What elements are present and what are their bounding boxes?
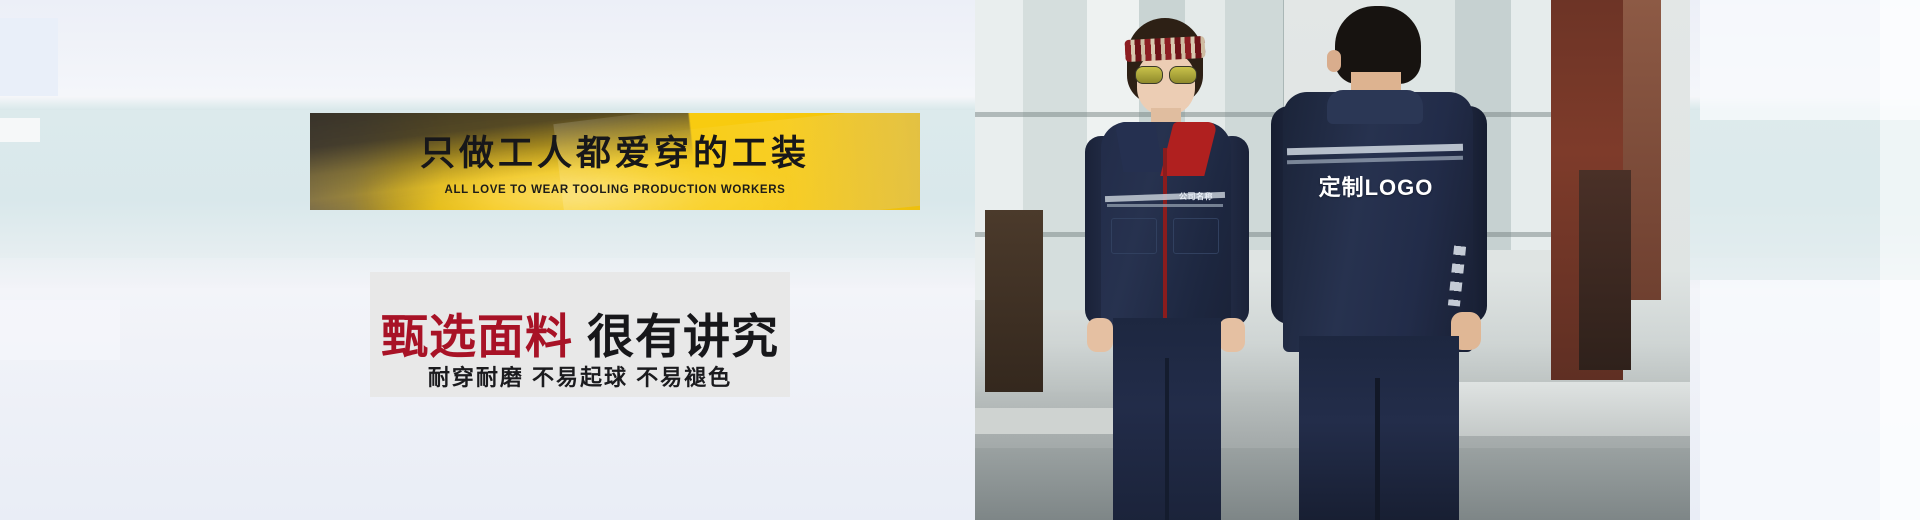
model-hand-left (1087, 318, 1113, 352)
planter-box (985, 210, 1043, 400)
model-back-view: 定制LOGO (1265, 6, 1495, 520)
jacket-zipper (1163, 148, 1167, 334)
headline-block: 甄选面料很有讲究 耐穿耐磨 不易起球 不易褪色 (370, 272, 790, 397)
doorway (1579, 170, 1631, 370)
jacket-collar-back (1327, 90, 1423, 124)
sunglasses-lens-left (1135, 66, 1163, 84)
headline-row: 甄选面料很有讲究 (370, 298, 790, 367)
sunglasses-lens-right (1169, 66, 1197, 84)
trousers-seam (1165, 358, 1169, 520)
glass-panel (1511, 0, 1552, 250)
model-face (1137, 52, 1195, 116)
product-photo: 公司名称 定制LOGO (975, 0, 1690, 520)
jacket-pocket-right (1173, 218, 1219, 254)
back-logo-text: 定制LOGO (1301, 170, 1451, 202)
yellow-banner: 只做工人都爱穿的工装 ALL LOVE TO WEAR TOOLING PROD… (310, 113, 920, 210)
trousers-seam (1375, 378, 1380, 520)
sunglasses-icon (1135, 66, 1197, 82)
headline-subline: 耐穿耐磨 不易起球 不易褪色 (370, 360, 790, 392)
jacket-pocket-left (1111, 218, 1157, 254)
model-ear (1327, 50, 1341, 72)
promo-banner-stage: 只做工人都爱穿的工装 ALL LOVE TO WEAR TOOLING PROD… (0, 0, 1920, 520)
jacket-collar-left (1115, 122, 1164, 172)
model-front-view: 公司名称 (1075, 18, 1255, 520)
banner-subtitle: ALL LOVE TO WEAR TOOLING PRODUCTION WORK… (310, 184, 920, 196)
plaid-headband (1124, 36, 1205, 62)
reflective-stripe-thin (1107, 204, 1223, 207)
model-hand-right (1219, 318, 1245, 352)
headline-rest-text: 很有讲究 (587, 310, 779, 363)
headline-accent-text: 甄选面料 (381, 310, 573, 363)
banner-title: 只做工人都爱穿的工装 (310, 133, 920, 175)
banner-text-group: 只做工人都爱穿的工装 ALL LOVE TO WEAR TOOLING PROD… (310, 133, 920, 196)
chest-badge: 公司名称 (1173, 188, 1219, 204)
work-jacket-back (1283, 92, 1473, 352)
